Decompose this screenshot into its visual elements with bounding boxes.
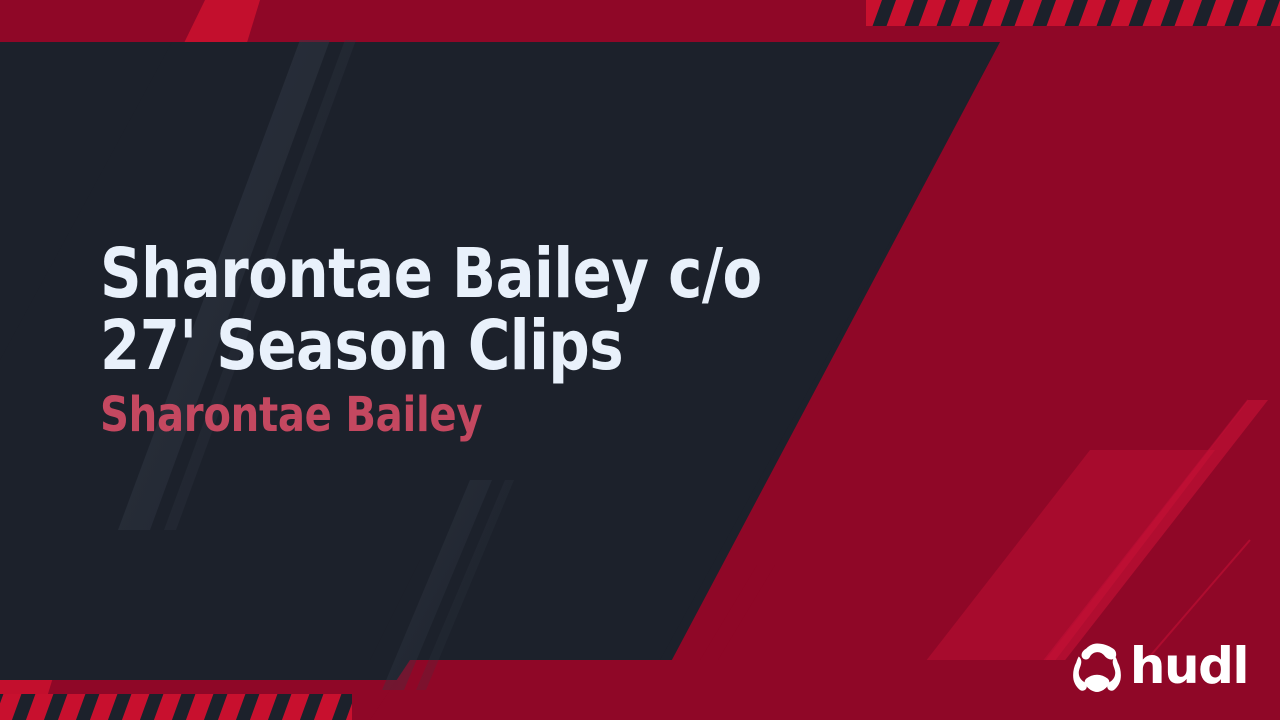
hudl-shield-icon: [1073, 642, 1121, 694]
video-title-card: Sharontae Bailey c/o 27' Season Clips Sh…: [0, 0, 1280, 720]
hudl-wordmark: hudl: [1130, 641, 1248, 691]
subtitle-author: Sharontae Bailey: [100, 388, 807, 442]
title-block: Sharontae Bailey c/o 27' Season Clips Sh…: [100, 238, 860, 442]
hudl-logo: hudl: [1073, 642, 1248, 694]
stripe-band-bottom-left: [0, 694, 352, 720]
title-line-1: Sharontae Bailey c/o: [100, 238, 807, 310]
stripe-band-top-right: [866, 0, 1280, 26]
title-line-2: 27' Season Clips: [100, 310, 807, 382]
